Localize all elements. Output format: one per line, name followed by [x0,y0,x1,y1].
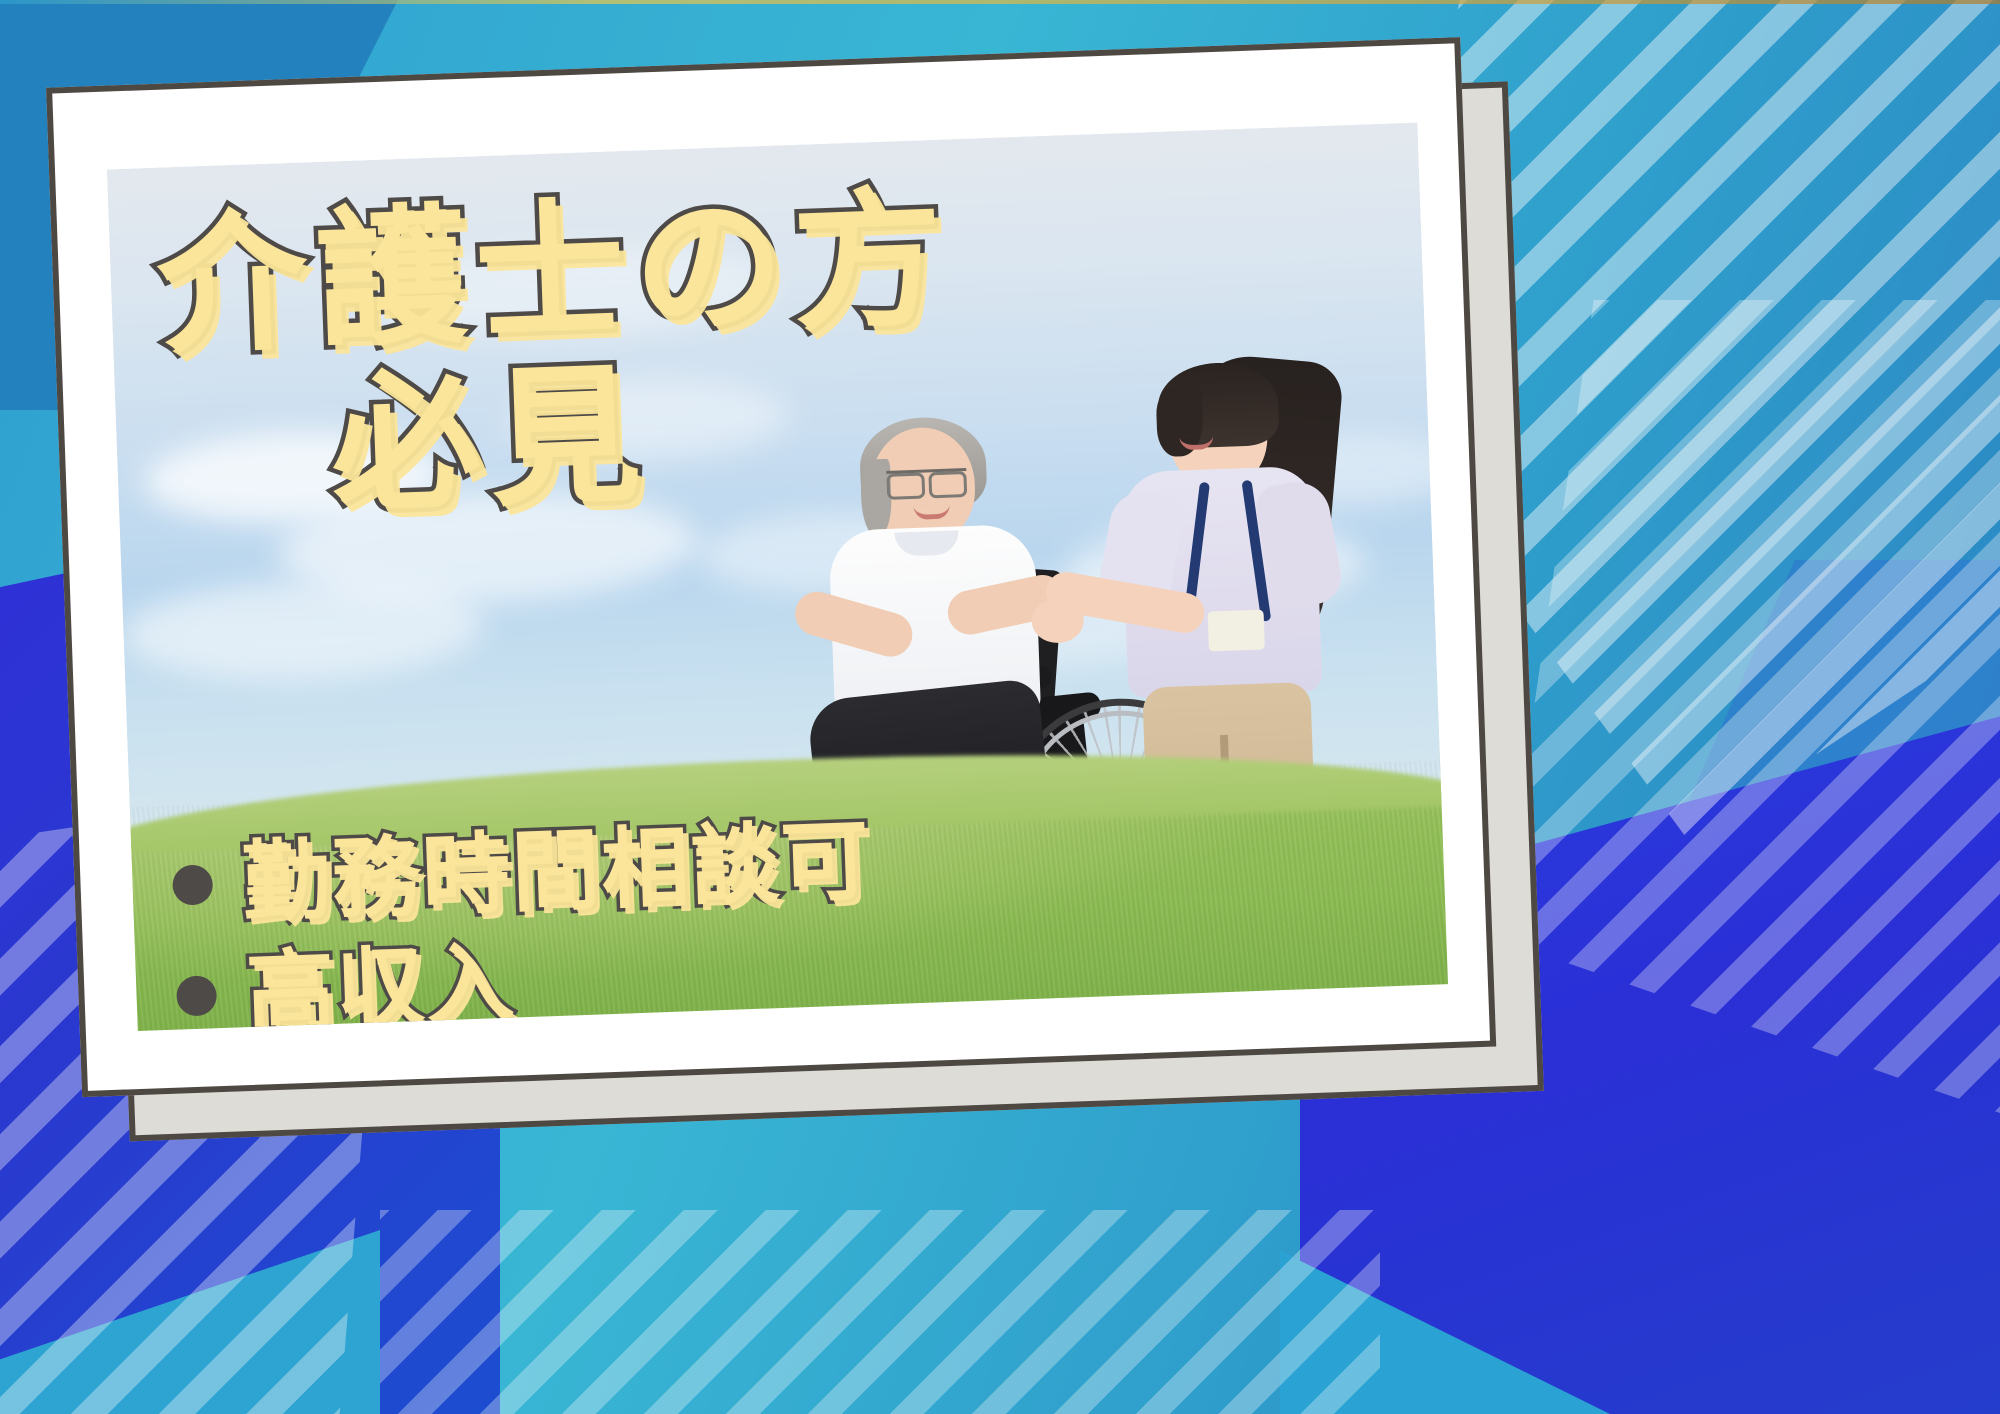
poster-card: 介護士の方 必見 勤務時間相談可 高収入 [46,37,1502,1117]
diagonal-stripes-bottom-center [380,1210,1380,1414]
grass-field [130,760,1448,1031]
glasses-icon [886,468,967,491]
top-accent-line [0,0,2000,4]
id-badge [1207,610,1264,652]
hero-photo: 介護士の方 必見 勤務時間相談可 高収入 [107,123,1448,1031]
caregiver-hand [1031,598,1085,644]
card-front: 介護士の方 必見 勤務時間相談可 高収入 [46,37,1496,1097]
